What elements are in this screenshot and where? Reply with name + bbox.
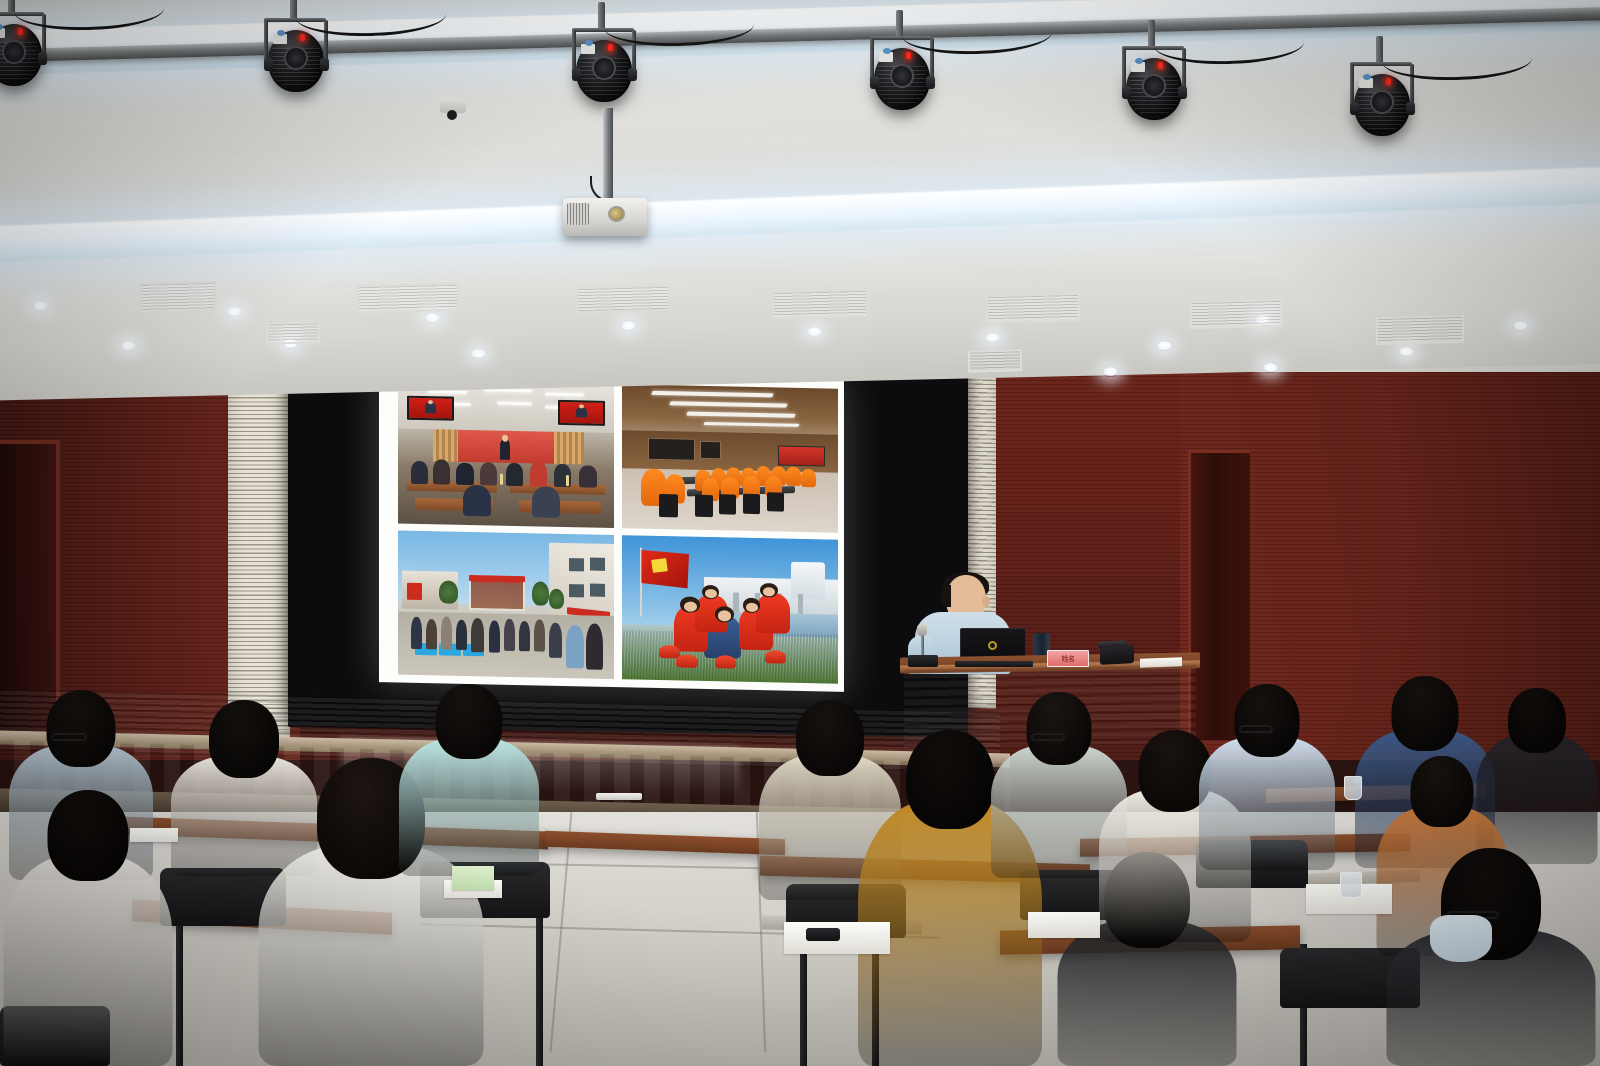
light-side-knob-right xyxy=(38,52,47,65)
slide-photo-orange-uniform-meeting xyxy=(622,384,838,533)
microphone-capsule xyxy=(917,624,927,636)
light-power-led-indicator xyxy=(608,44,613,51)
attendee-mint-hooded-jacket xyxy=(396,684,542,876)
desk-leg xyxy=(176,918,183,1066)
conference-hall-scene: 姓名 xyxy=(0,0,1600,1066)
downlight-icon xyxy=(1398,346,1415,357)
attendee-head xyxy=(906,730,994,829)
ceiling-camera-lens xyxy=(447,110,457,120)
downlight-icon xyxy=(226,306,243,317)
laptop-base[interactable] xyxy=(955,661,1033,667)
presentation-slide[interactable] xyxy=(379,370,844,692)
downlight-icon xyxy=(120,340,137,351)
projector-mount-pole xyxy=(603,108,613,200)
ceiling-vent-icon xyxy=(1376,315,1464,345)
ceiling-vent-icon xyxy=(772,289,868,320)
attendee-torso xyxy=(4,856,173,1066)
light-side-knob-left xyxy=(1122,86,1131,99)
attendee-head xyxy=(1392,676,1459,751)
light-blue-sticker xyxy=(585,40,593,46)
ceiling-vent-icon xyxy=(968,349,1022,372)
ceiling-vent-icon xyxy=(1190,299,1282,329)
ceiling-vent-icon xyxy=(986,293,1080,323)
light-side-knob-left xyxy=(1350,102,1359,115)
presenter-hair-side xyxy=(941,585,951,607)
light-side-knob-right xyxy=(1178,86,1187,99)
attendee-torso xyxy=(1199,737,1335,870)
attendee-head xyxy=(1508,688,1566,753)
light-side-knob-right xyxy=(320,58,329,71)
downlight-icon xyxy=(32,300,49,311)
attendee-masked-man-front-right xyxy=(1382,848,1600,1066)
podium-paper-stack xyxy=(1140,657,1182,667)
ceiling-vent-icon xyxy=(576,285,670,313)
attendee-head xyxy=(1235,684,1300,757)
attendee-light-blue-tshirt xyxy=(1196,684,1338,870)
attendee-head xyxy=(48,790,129,881)
phone[interactable] xyxy=(806,928,840,941)
downlight-icon xyxy=(1512,320,1529,331)
water-cup[interactable] xyxy=(1340,872,1362,898)
light-side-knob-right xyxy=(628,68,637,81)
slide-photo-red-vest-volunteers xyxy=(622,535,838,684)
face-mask-icon xyxy=(1430,915,1492,962)
attendee-head xyxy=(436,684,503,759)
downlight-icon xyxy=(1102,366,1119,377)
downlight-icon xyxy=(984,332,1001,343)
green-notes[interactable] xyxy=(452,866,494,890)
downlight-icon xyxy=(806,326,823,337)
red-nameplate: 姓名 xyxy=(1047,650,1089,667)
eyeglasses-icon xyxy=(1031,733,1065,741)
attendee-head xyxy=(1411,756,1474,827)
light-power-led-indicator xyxy=(1386,78,1391,85)
downlight-icon xyxy=(424,312,441,323)
desk-leg xyxy=(536,900,543,1066)
light-lens xyxy=(284,46,308,70)
stage-floor-microphone xyxy=(596,793,642,800)
slide-photo-conference-broadcast xyxy=(398,380,614,529)
eyeglasses-icon xyxy=(51,733,87,741)
light-side-knob-left xyxy=(264,58,273,71)
projector-vent xyxy=(567,203,589,225)
nameplate-text: 姓名 xyxy=(1048,651,1088,666)
light-power-led-indicator xyxy=(18,28,23,35)
papers[interactable] xyxy=(1028,912,1100,938)
projector-lens xyxy=(608,206,625,222)
light-side-knob-right xyxy=(1406,102,1415,115)
presenter-ear xyxy=(982,596,990,607)
light-side-knob-right xyxy=(926,76,935,89)
downlight-icon xyxy=(470,348,487,359)
attendee-head xyxy=(1027,692,1092,765)
attendee-head xyxy=(47,690,116,767)
light-blue-sticker xyxy=(883,48,891,54)
light-lens xyxy=(1370,90,1394,114)
light-side-knob-left xyxy=(870,76,879,89)
light-lens xyxy=(890,64,914,88)
light-blue-sticker xyxy=(277,30,285,36)
slide-photo-village-square-gathering xyxy=(398,531,614,680)
downlight-icon xyxy=(1156,340,1173,351)
light-blue-sticker xyxy=(1363,74,1371,80)
downlight-icon xyxy=(620,320,637,331)
ceiling-vent-icon xyxy=(356,283,460,314)
light-lens xyxy=(592,56,616,80)
eyeglasses-icon xyxy=(1239,725,1273,733)
microphone-base xyxy=(908,655,938,667)
downlight-icon xyxy=(1262,362,1279,373)
light-power-led-indicator xyxy=(300,34,305,41)
light-power-led-indicator xyxy=(1158,62,1163,69)
light-lens xyxy=(1142,74,1166,98)
paper-cup[interactable] xyxy=(1344,776,1362,800)
pilaster-panel-left xyxy=(228,348,290,740)
light-lens xyxy=(2,40,26,64)
desk-telephone[interactable] xyxy=(1100,645,1134,665)
light-blue-sticker xyxy=(1135,58,1143,64)
light-side-knob-left xyxy=(572,68,581,81)
laptop-logo-icon xyxy=(988,641,997,650)
ceiling-vent-icon xyxy=(266,321,320,344)
notepad[interactable] xyxy=(130,828,178,842)
light-power-led-indicator xyxy=(906,52,911,59)
ceiling-vent-icon xyxy=(140,281,216,313)
